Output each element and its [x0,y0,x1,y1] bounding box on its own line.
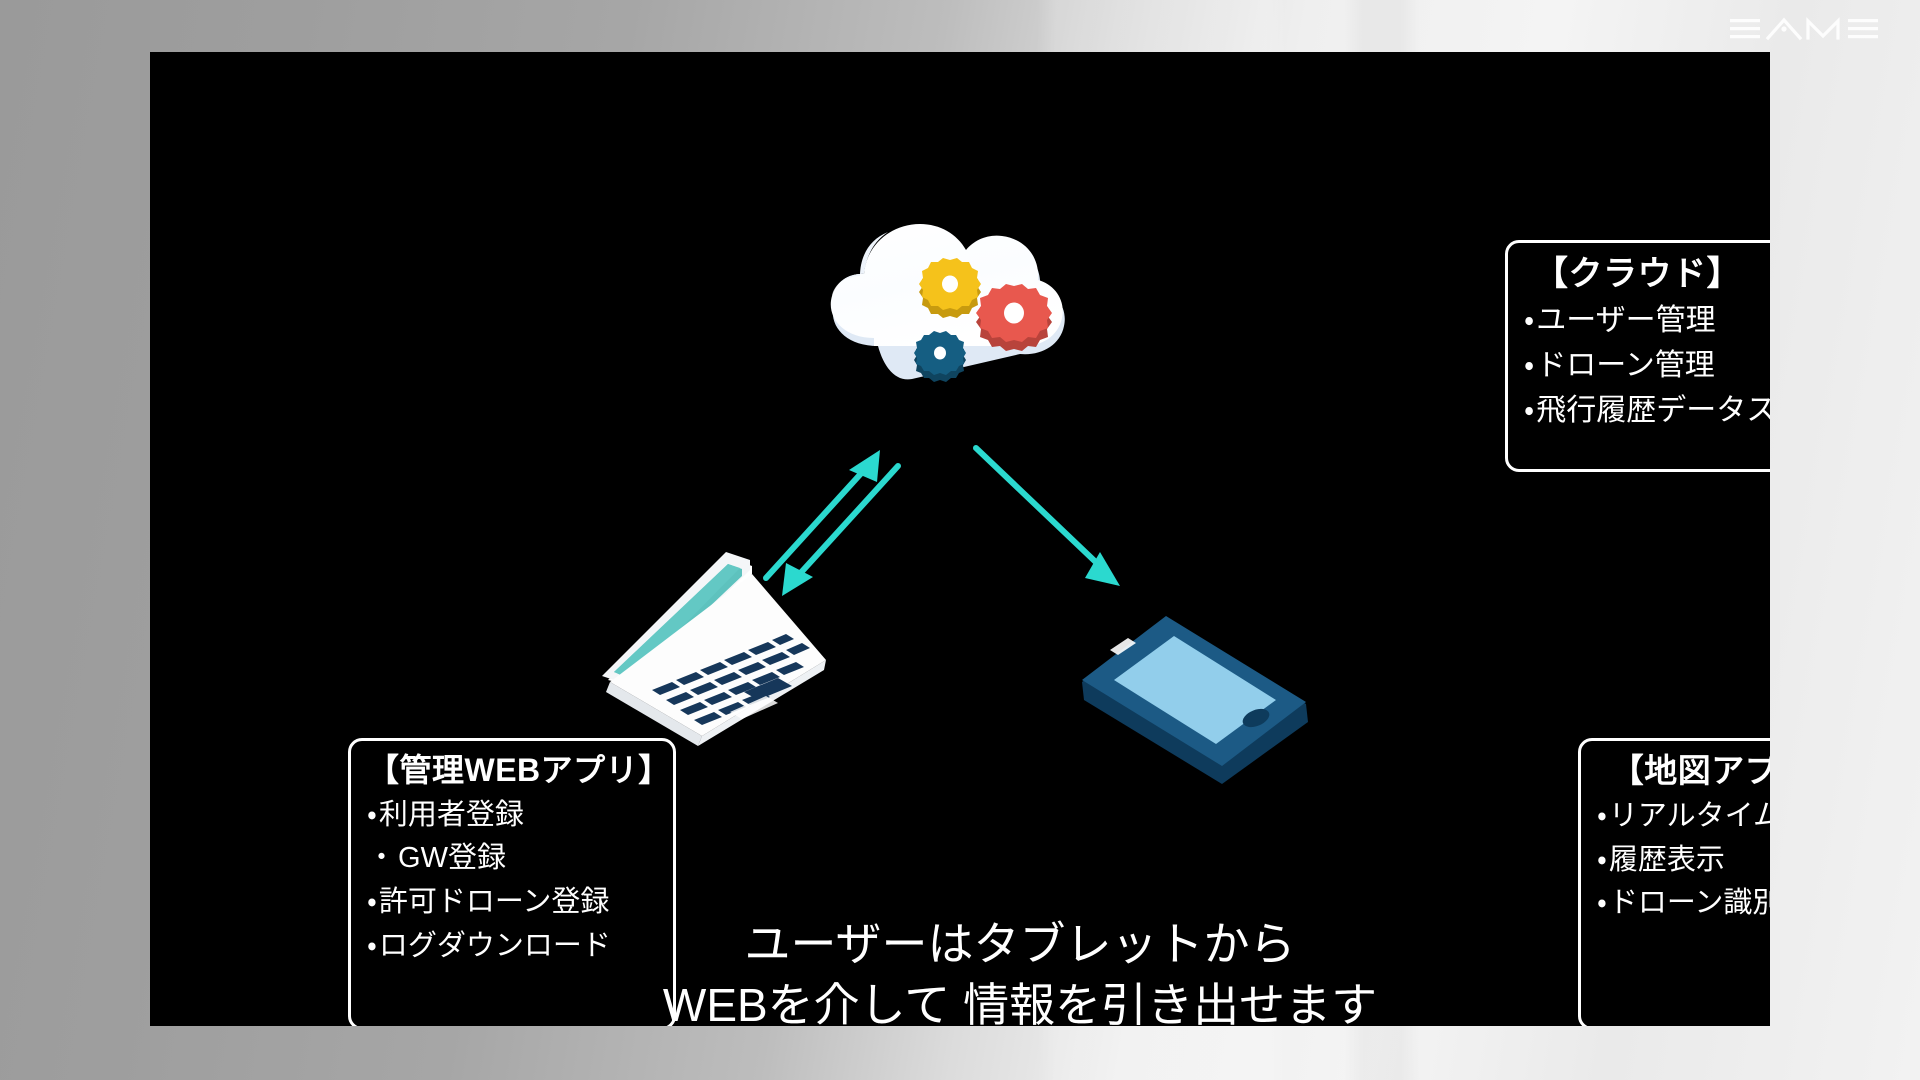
panel-map-app-list: ・リアルタイム表示 ・履歴表示 ・ドローン識別 [1597,798,1770,923]
list-item-label: 飛行履歴データストア [1536,394,1770,427]
tablet-illustration [1070,588,1320,808]
panel-web-admin-title: 【管理WEBアプリ】 [367,751,657,791]
bullet-glyph: ・ [1597,844,1607,876]
list-item-label: ユーザー管理 [1536,304,1715,337]
caption-line-2: WEBを介して 情報を引き出せます [550,975,1490,1026]
list-item: ・GW登録 [367,840,657,878]
caption-line-1: ユーザーはタブレットから [550,914,1490,975]
list-item: ・利用者登録 [367,797,657,835]
list-item-label: GW登録 [398,842,506,874]
arrow-cloud-to-tablet [976,448,1120,586]
bullet-glyph: ・ [367,886,377,918]
list-item-label: ドローン管理 [1536,349,1715,382]
bullet-glyph: ・ [367,842,396,874]
list-item: ・飛行履歴データストア [1524,391,1770,430]
list-item-label: リアルタイム表示 [1609,800,1770,832]
bullet-glyph: ・ [367,930,377,962]
panel-cloud-title: 【クラウド】 [1524,253,1770,295]
list-item: ・ドローン管理 [1524,346,1770,385]
presentation-slide: 【クラウド】 ・ユーザー管理 ・ドローン管理 ・飛行履歴データストア 【管理WE… [150,52,1770,1026]
screenshot-root: 【クラウド】 ・ユーザー管理 ・ドローン管理 ・飛行履歴データストア 【管理WE… [0,0,1920,1080]
panel-map-app[interactable]: 【地図アプリ】 ・リアルタイム表示 ・履歴表示 ・ドローン識別 [1578,738,1770,1026]
bullet-glyph: ・ [367,799,377,831]
eams-logo [1728,12,1896,46]
list-item: ・履歴表示 [1597,842,1770,880]
list-item: ・ドローン識別 [1597,885,1770,923]
laptop-illustration [580,530,840,760]
list-item-label: ドローン識別 [1609,887,1770,919]
bullet-glyph: ・ [1597,800,1607,832]
list-item-label: 履歴表示 [1609,844,1725,876]
panel-cloud[interactable]: 【クラウド】 ・ユーザー管理 ・ドローン管理 ・飛行履歴データストア [1505,240,1770,472]
panel-map-app-title: 【地図アプリ】 [1597,751,1770,792]
list-item: ・ユーザー管理 [1524,301,1770,340]
bullet-glyph: ・ [1524,394,1534,427]
slide-caption: ユーザーはタブレットから WEBを介して 情報を引き出せます [550,914,1490,1026]
bullet-glyph: ・ [1524,349,1534,382]
bullet-glyph: ・ [1524,304,1534,337]
list-item: ・リアルタイム表示 [1597,798,1770,836]
panel-cloud-list: ・ユーザー管理 ・ドローン管理 ・飛行履歴データストア [1524,301,1770,430]
list-item-label: 利用者登録 [379,799,524,831]
bullet-glyph: ・ [1597,887,1607,919]
